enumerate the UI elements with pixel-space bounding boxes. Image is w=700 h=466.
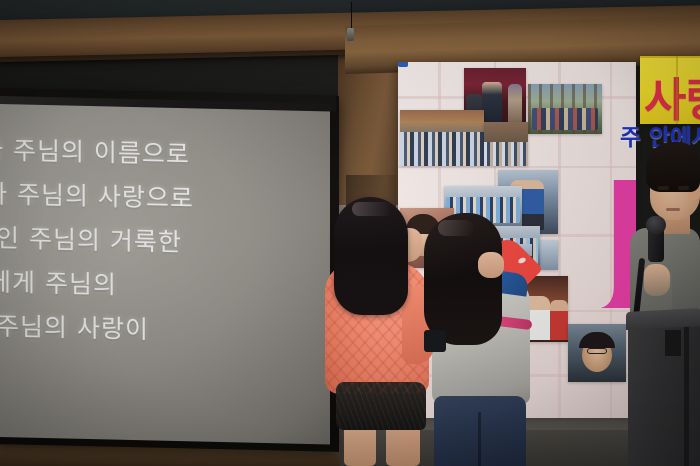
- slide-text-block: 다 주님의 이름으로 다 주님의 사랑으로 인 주님의 거룩한 에게 주님의 주…: [0, 128, 266, 355]
- slide-line-2: 다 주님의 사랑으로: [0, 172, 266, 223]
- slide-line-5: 주님의 사랑이: [0, 304, 266, 355]
- sign-fold-line: [676, 56, 678, 124]
- collage-photo: [400, 110, 484, 166]
- girl-grey-jeans-seam: [478, 412, 481, 466]
- girl-coral-leg-left: [344, 424, 376, 466]
- girl-grey-hand: [478, 252, 504, 278]
- collage-photo: [568, 324, 626, 382]
- held-phone: [424, 330, 446, 352]
- girl-coral-hair-sheen: [352, 202, 392, 216]
- man-eye-left: [658, 186, 669, 191]
- microphone-head-icon: [646, 216, 666, 234]
- man-mouth: [666, 208, 680, 211]
- collage-photo: [528, 84, 602, 134]
- podium-edge: [684, 326, 689, 466]
- yellow-sign-text: 사랑: [644, 64, 700, 124]
- slide-line-3: 인 주님의 거룩한: [0, 216, 266, 267]
- man-hand: [644, 264, 670, 296]
- man-eye-right: [678, 186, 689, 191]
- banner-clip-icon: [398, 62, 408, 67]
- podium-notch: [665, 330, 681, 356]
- banner-grid-line: [398, 166, 636, 168]
- yellow-sign: 사랑: [640, 56, 700, 124]
- collage-photo: [484, 122, 528, 166]
- girl-coral-shorts-texture: [336, 382, 426, 430]
- man-hair: [646, 142, 700, 192]
- podium: [628, 326, 700, 466]
- photo-scene: 다 주님의 이름으로 다 주님의 사랑으로 인 주님의 거룩한 에게 주님의 주…: [0, 0, 700, 466]
- ceiling-hook-icon: [347, 28, 354, 41]
- slide-line-4: 에게 주님의: [0, 260, 266, 311]
- slide-line-1: 다 주님의 이름으로: [0, 128, 266, 179]
- podium-top-surface: [626, 308, 700, 330]
- girl-grey-hair-sheen: [438, 220, 474, 236]
- girl-coral-leg-right: [386, 424, 420, 466]
